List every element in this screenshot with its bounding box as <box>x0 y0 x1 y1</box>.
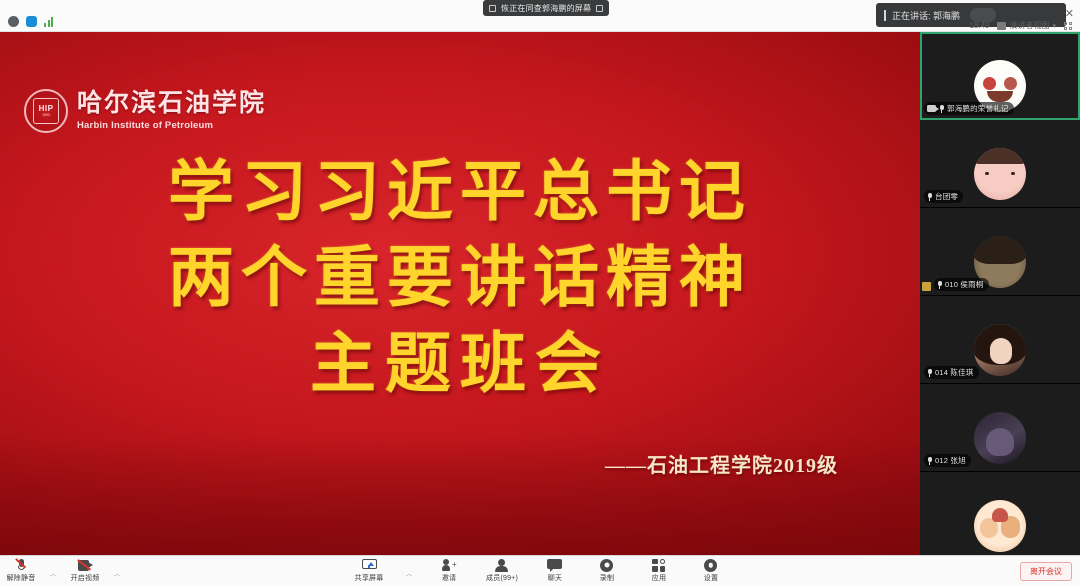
view-mode-label: 演讲者视图 <box>1009 20 1049 31</box>
toolbar-center-group: 共享屏幕 ︿ + 邀请 成员(99+) 聊天 <box>354 558 726 583</box>
participants-button[interactable]: 成员(99+) <box>486 558 518 583</box>
mic-muted-icon <box>937 281 942 289</box>
stop-share-icon[interactable] <box>596 5 603 12</box>
expand-icon[interactable] <box>1064 22 1072 30</box>
start-video-button-label: 开启视频 <box>71 573 100 583</box>
chrome-status-icons <box>8 16 56 27</box>
meeting-app-window: 恢正在同查郭海鹏的屏幕 — ▢ ✕ 正在讲话: 郭海鹏 18:49 演讲者视图 … <box>0 0 1080 586</box>
settings-button[interactable]: 设置 <box>696 558 726 583</box>
participant-tile[interactable]: 台团零 <box>920 120 1080 208</box>
mic-muted-icon <box>17 558 25 572</box>
invite-label: 邀请 <box>442 573 456 583</box>
slide-title-line-3: 主题班会 <box>0 322 920 408</box>
seal-initials: HIP <box>39 105 54 113</box>
settings-circle-icon[interactable] <box>8 16 19 27</box>
seal-year: 1993 <box>42 114 50 118</box>
status-row: 18:49 演讲者视图 ▾ <box>969 20 1072 31</box>
video-on-icon <box>927 105 936 112</box>
host-badge-icon <box>922 282 931 291</box>
invite-button[interactable]: + 邀请 <box>434 558 464 583</box>
chevron-down-icon: ▾ <box>1052 22 1056 30</box>
apps-label: 应用 <box>652 573 666 583</box>
participant-tile[interactable]: 郭海鹏的荣誉礼记 <box>920 32 1080 120</box>
share-screen-button[interactable]: 共享屏幕 <box>354 558 384 583</box>
participant-tile[interactable]: 012 张旭 <box>920 384 1080 472</box>
record-icon <box>600 558 613 572</box>
share-screen-label: 共享屏幕 <box>355 573 384 583</box>
participant-name: 014 陈佳琪 <box>935 367 974 378</box>
close-button[interactable]: ✕ <box>1065 9 1074 20</box>
mute-button[interactable]: 解除静音 <box>6 558 36 583</box>
participant-tile[interactable] <box>920 472 1080 555</box>
apps-icon <box>652 558 665 572</box>
participant-nametag: 台团零 <box>924 190 963 203</box>
participant-nametag: 014 陈佳琪 <box>924 366 979 379</box>
participant-nametag: 010 侯雨桐 <box>934 278 989 291</box>
apps-button[interactable]: 应用 <box>644 558 674 583</box>
sharing-status-label: 恢正在同查郭海鹏的屏幕 <box>501 3 591 14</box>
window-title-bar: 恢正在同查郭海鹏的屏幕 — ▢ ✕ 正在讲话: 郭海鹏 18:49 演讲者视图 … <box>0 0 1080 32</box>
shared-screen-stage[interactable]: HIP 1993 哈尔滨石油学院 Harbin Institute of Pet… <box>0 32 920 555</box>
view-mode-switch[interactable]: 演讲者视图 ▾ <box>997 20 1056 31</box>
clock-label: 18:49 <box>969 21 989 30</box>
mic-muted-icon <box>927 369 932 377</box>
avatar <box>974 324 1026 376</box>
mic-muted-icon <box>927 193 932 201</box>
chat-label: 聊天 <box>548 573 562 583</box>
gear-icon <box>704 558 717 572</box>
leave-meeting-button[interactable]: 离开会议 <box>1020 562 1072 581</box>
sharing-status-tooltip[interactable]: 恢正在同查郭海鹏的屏幕 <box>483 0 609 16</box>
record-button[interactable]: 录制 <box>592 558 622 583</box>
meeting-toolbar: 解除静音 ︿ 开启视频 ︿ 共享屏幕 ︿ + <box>0 555 1080 586</box>
participant-tile[interactable]: 014 陈佳琪 <box>920 296 1080 384</box>
participant-tile[interactable]: 010 侯雨桐 <box>920 208 1080 296</box>
school-seal-icon: HIP 1993 <box>24 89 68 133</box>
mic-muted-icon <box>927 457 932 465</box>
view-grid-icon <box>997 22 1006 30</box>
shield-icon[interactable] <box>26 16 37 27</box>
participant-name: 郭海鹏的荣誉礼记 <box>947 103 1009 114</box>
screen-share-small-icon <box>489 5 496 12</box>
avatar <box>974 500 1026 552</box>
invite-icon: + <box>442 558 457 572</box>
mic-muted-icon <box>939 105 944 113</box>
school-name-block: 哈尔滨石油学院 Harbin Institute of Petroleum <box>77 91 266 130</box>
record-label: 录制 <box>600 573 614 583</box>
participant-name: 010 侯雨桐 <box>945 279 984 290</box>
participant-name: 台团零 <box>935 191 958 202</box>
participant-nametag: 郭海鹏的荣誉礼记 <box>924 102 1014 115</box>
school-name-cn: 哈尔滨石油学院 <box>77 91 266 117</box>
avatar <box>974 148 1026 200</box>
slide-subtitle: ——石油工程学院2019级 <box>605 449 838 478</box>
avatar <box>974 412 1026 464</box>
toolbar-left-group: 解除静音 ︿ 开启视频 ︿ <box>6 558 120 583</box>
drag-handle-icon[interactable] <box>884 10 886 21</box>
slide-title: 学习习近平总书记 两个重要讲话精神 主题班会 <box>0 150 920 408</box>
school-name-en: Harbin Institute of Petroleum <box>77 120 266 131</box>
active-speaker-label: 正在讲话: 郭海鹏 <box>892 9 960 22</box>
camera-off-icon <box>78 558 93 572</box>
school-logo: HIP 1993 哈尔滨石油学院 Harbin Institute of Pet… <box>24 89 266 133</box>
chat-icon <box>547 558 562 572</box>
participants-label: 成员(99+) <box>486 573 518 583</box>
participant-panel[interactable]: 郭海鹏的荣誉礼记 台团零 010 侯雨桐 014 陈佳琪 <box>920 32 1080 555</box>
participant-name: 012 张旭 <box>935 455 966 466</box>
participant-nametag: 012 张旭 <box>924 454 971 467</box>
signal-bars-icon[interactable] <box>44 17 56 27</box>
share-options-chevron-icon[interactable]: ︿ <box>406 569 412 578</box>
settings-label: 设置 <box>704 573 718 583</box>
video-options-chevron-icon[interactable]: ︿ <box>114 569 120 578</box>
slide-title-line-1: 学习习近平总书记 <box>0 150 920 236</box>
chat-button[interactable]: 聊天 <box>540 558 570 583</box>
audio-options-chevron-icon[interactable]: ︿ <box>50 569 56 578</box>
start-video-button[interactable]: 开启视频 <box>70 558 100 583</box>
slide-title-line-2: 两个重要讲话精神 <box>0 236 920 322</box>
share-screen-icon <box>362 558 377 572</box>
participants-icon <box>495 558 510 572</box>
mute-button-label: 解除静音 <box>7 573 36 583</box>
